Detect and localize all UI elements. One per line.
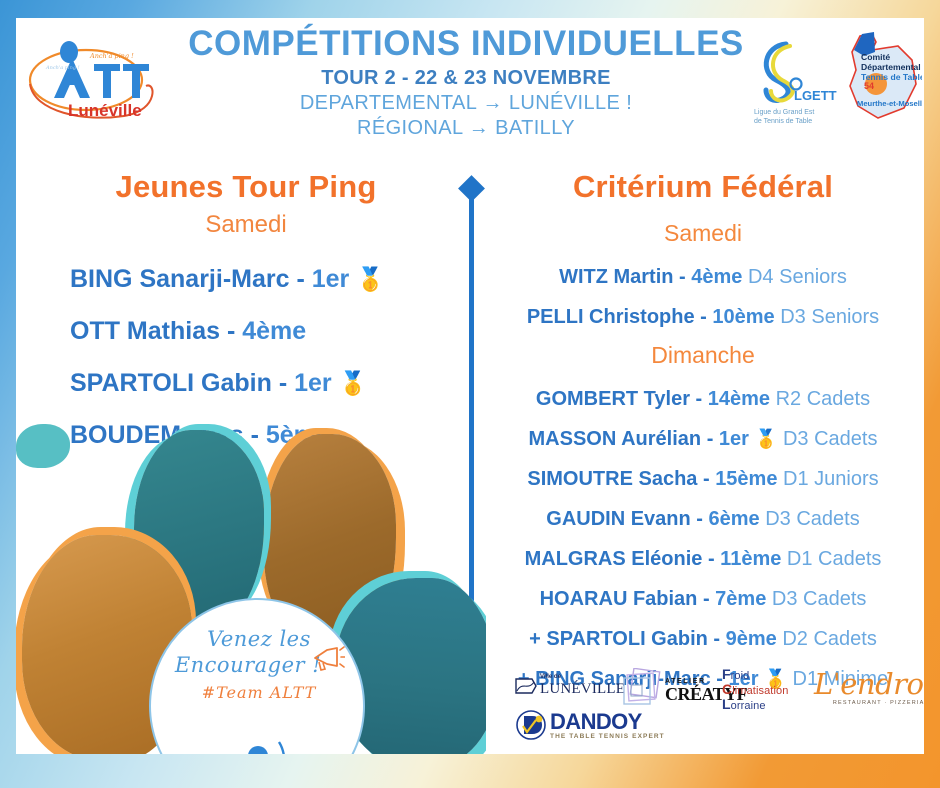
list-item: MASSON Aurélian - 1er 🥇 D3 Cadets — [482, 426, 924, 452]
luneville-name: LUNÉVILLE — [540, 681, 625, 698]
bubble-hashtag: #Team ALTT — [151, 680, 365, 706]
player-rank: 4ème — [242, 317, 306, 345]
gold-medal-icon: 🥇 — [339, 370, 368, 396]
subtitle-tour: TOUR 2 - 22 & 23 NOVEMBRE — [166, 66, 766, 91]
player-photo-collage: Venez les Encourager ! #Team ALTT — [16, 424, 486, 754]
player-rank: 1er — [312, 265, 350, 293]
player-name: PELLI Christophe - — [527, 306, 713, 328]
subtitle-regional: RÉGIONAL → BATILLY — [166, 116, 766, 141]
player-name: + SPARTOLI Gabin - — [529, 628, 726, 650]
player-name: BING Sanarji-Marc - — [70, 265, 312, 293]
player-name: MALGRAS Eléonie - — [525, 548, 721, 570]
player-rank: 10ème — [712, 306, 774, 328]
list-item: PELLI Christophe - 10ème D3 Seniors — [482, 304, 924, 330]
cd54-line2: Départemental — [861, 62, 921, 72]
lendroit-name: L'endroit — [814, 668, 924, 700]
poster-canvas: Lunéville Anch'a ping ! Anch'a ping ! CO… — [16, 18, 924, 754]
lgett-line1: Ligue du Grand Est — [754, 109, 814, 116]
section-criterium-federal: Critérium Fédéral Samedi WITZ Martin - 4… — [482, 166, 924, 692]
poster-header: Lunéville Anch'a ping ! Anch'a ping ! CO… — [16, 18, 924, 146]
player-category: D3 Cadets — [777, 428, 877, 450]
day-label-samedi-left: Samedi — [36, 208, 456, 242]
player-name: SIMOUTRE Sacha - — [527, 468, 715, 490]
svg-text:Anch'a ping !: Anch'a ping ! — [45, 65, 80, 71]
player-category: D3 Cadets — [766, 588, 866, 610]
player-name: GOMBERT Tyler - — [536, 388, 708, 410]
poster-frame: Lunéville Anch'a ping ! Anch'a ping ! CO… — [0, 0, 940, 788]
fcl-line-3: Lorraine — [722, 698, 788, 713]
list-item: HOARAU Fabian - 7ème D3 Cadets — [482, 586, 924, 612]
list-item: GOMBERT Tyler - 14ème R2 Cadets — [482, 386, 924, 412]
cd54-number: 54 — [864, 81, 874, 91]
list-item: + SPARTOLI Gabin - 9ème D2 Cadets — [482, 626, 924, 652]
title-block: COMPÉTITIONS INDIVIDUELLES TOUR 2 - 22 &… — [166, 22, 766, 141]
list-item: MALGRAS Eléonie - 11ème D1 Cadets — [482, 546, 924, 572]
page-title: COMPÉTITIONS INDIVIDUELLES — [166, 22, 766, 66]
section-jeunes-tour-ping: Jeunes Tour Ping Samedi BING Sanarji-Mar… — [36, 166, 456, 450]
cd54-line1: Comité — [861, 52, 890, 62]
player-name: GAUDIN Evann - — [546, 508, 708, 530]
luneville-crest-icon — [514, 675, 538, 697]
luneville-prefix: Ville de — [540, 674, 625, 681]
ping-pong-emblem-icon: ALTT — [227, 740, 291, 754]
player-name: MASSON Aurélian - — [529, 428, 719, 450]
player-category: D4 Seniors — [742, 266, 847, 288]
altt-city-label: Lunéville — [68, 101, 142, 120]
player-rank: 7ème — [715, 588, 766, 610]
dandoy-logo-icon — [516, 710, 546, 740]
player-category: D3 Cadets — [760, 508, 860, 530]
creatyf-frames-icon — [620, 668, 664, 710]
player-category: D2 Cadets — [777, 628, 877, 650]
paddle-shape — [16, 424, 70, 468]
player-rank: 9ème — [726, 628, 777, 650]
lgett-line2: de Tennis de Table — [754, 118, 812, 125]
player-category: R2 Cadets — [770, 388, 870, 410]
lgett-abbr: LGETT — [794, 88, 837, 103]
section-title-left: Jeunes Tour Ping — [36, 166, 456, 208]
list-item: SPARTOLI Gabin - 1er 🥇 — [36, 368, 456, 398]
player-rank: 4ème — [691, 266, 742, 288]
list-item: BING Sanarji-Marc - 1er 🥇 — [36, 264, 456, 294]
gold-medal-icon: 🥇 — [356, 266, 385, 292]
section-title-right: Critérium Fédéral — [482, 166, 924, 208]
dandoy-subtitle: THE TABLE TENNIS EXPERT — [550, 733, 665, 740]
sponsor-ville-de-luneville: Ville de LUNÉVILLE — [514, 674, 625, 698]
sponsor-strip: Ville de LUNÉVILLE ATELIER CRÉATYF — [496, 666, 922, 746]
sponsor-dandoy: DANDOY THE TABLE TENNIS EXPERT — [516, 710, 665, 740]
day-label-samedi-right: Samedi — [482, 216, 924, 250]
player-rank: 1er — [719, 428, 749, 450]
divider-diamond-top — [458, 175, 485, 202]
altt-tagline: Anch'a ping ! — [89, 52, 134, 60]
list-item: WITZ Martin - 4ème D4 Seniors — [482, 264, 924, 290]
cd54-line4: Meurthe-et-Moselle — [857, 99, 922, 108]
player-rank: 1er — [294, 369, 332, 397]
list-item: OTT Mathias - 4ème — [36, 316, 456, 346]
player-category: D1 Juniors — [777, 468, 878, 490]
player-name: SPARTOLI Gabin - — [70, 369, 294, 397]
player-category: D3 Seniors — [775, 306, 880, 328]
fcl-line-2: Climatisation — [722, 683, 788, 698]
gold-medal-icon: 🥇 — [755, 428, 778, 449]
lgett-league-logo: LGETT Ligue du Grand Est de Tennis de Ta… — [752, 36, 840, 128]
list-item: SIMOUTRE Sacha - 15ème D1 Juniors — [482, 466, 924, 492]
player-rank: 14ème — [708, 388, 770, 410]
player-rank: 6ème — [709, 508, 760, 530]
player-name: HOARAU Fabian - — [540, 588, 716, 610]
player-name: WITZ Martin - — [559, 266, 691, 288]
sponsor-lendroit: L'endroit RESTAURANT · PIZZERIA — [814, 668, 924, 706]
player-rank: 11ème — [720, 548, 781, 570]
megaphone-icon — [311, 642, 345, 672]
subtitle-departemental: DEPARTEMENTAL → LUNÉVILLE ! — [166, 91, 766, 116]
list-item: GAUDIN Evann - 6ème D3 Cadets — [482, 506, 924, 532]
player-rank: 15ème — [715, 468, 777, 490]
altt-club-logo: Lunéville Anch'a ping ! Anch'a ping ! — [24, 24, 164, 128]
day-label-dimanche: Dimanche — [482, 338, 924, 372]
cd54-committee-logo: Comité Départemental Tennis de Table 54 … — [842, 26, 922, 130]
player-name: OTT Mathias - — [70, 317, 242, 345]
dandoy-name: DANDOY — [550, 710, 665, 733]
player-category: D1 Cadets — [781, 548, 881, 570]
sponsor-froid-climatisation-lorraine: Froid Climatisation Lorraine — [722, 668, 788, 713]
